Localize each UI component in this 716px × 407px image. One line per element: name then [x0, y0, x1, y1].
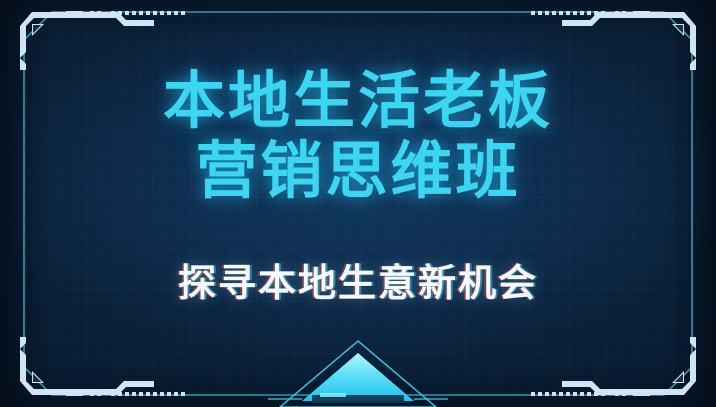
poster-title-line-1: 本地生活老板 — [0, 64, 716, 138]
poster-text-block: 本地生活老板 营销思维班 探寻本地生意新机会 — [0, 0, 716, 306]
poster-title-line-2: 营销思维班 — [0, 134, 716, 208]
poster-canvas: 本地生活老板 营销思维班 探寻本地生意新机会 — [0, 0, 716, 407]
poster-subtitle: 探寻本地生意新机会 — [0, 260, 716, 306]
